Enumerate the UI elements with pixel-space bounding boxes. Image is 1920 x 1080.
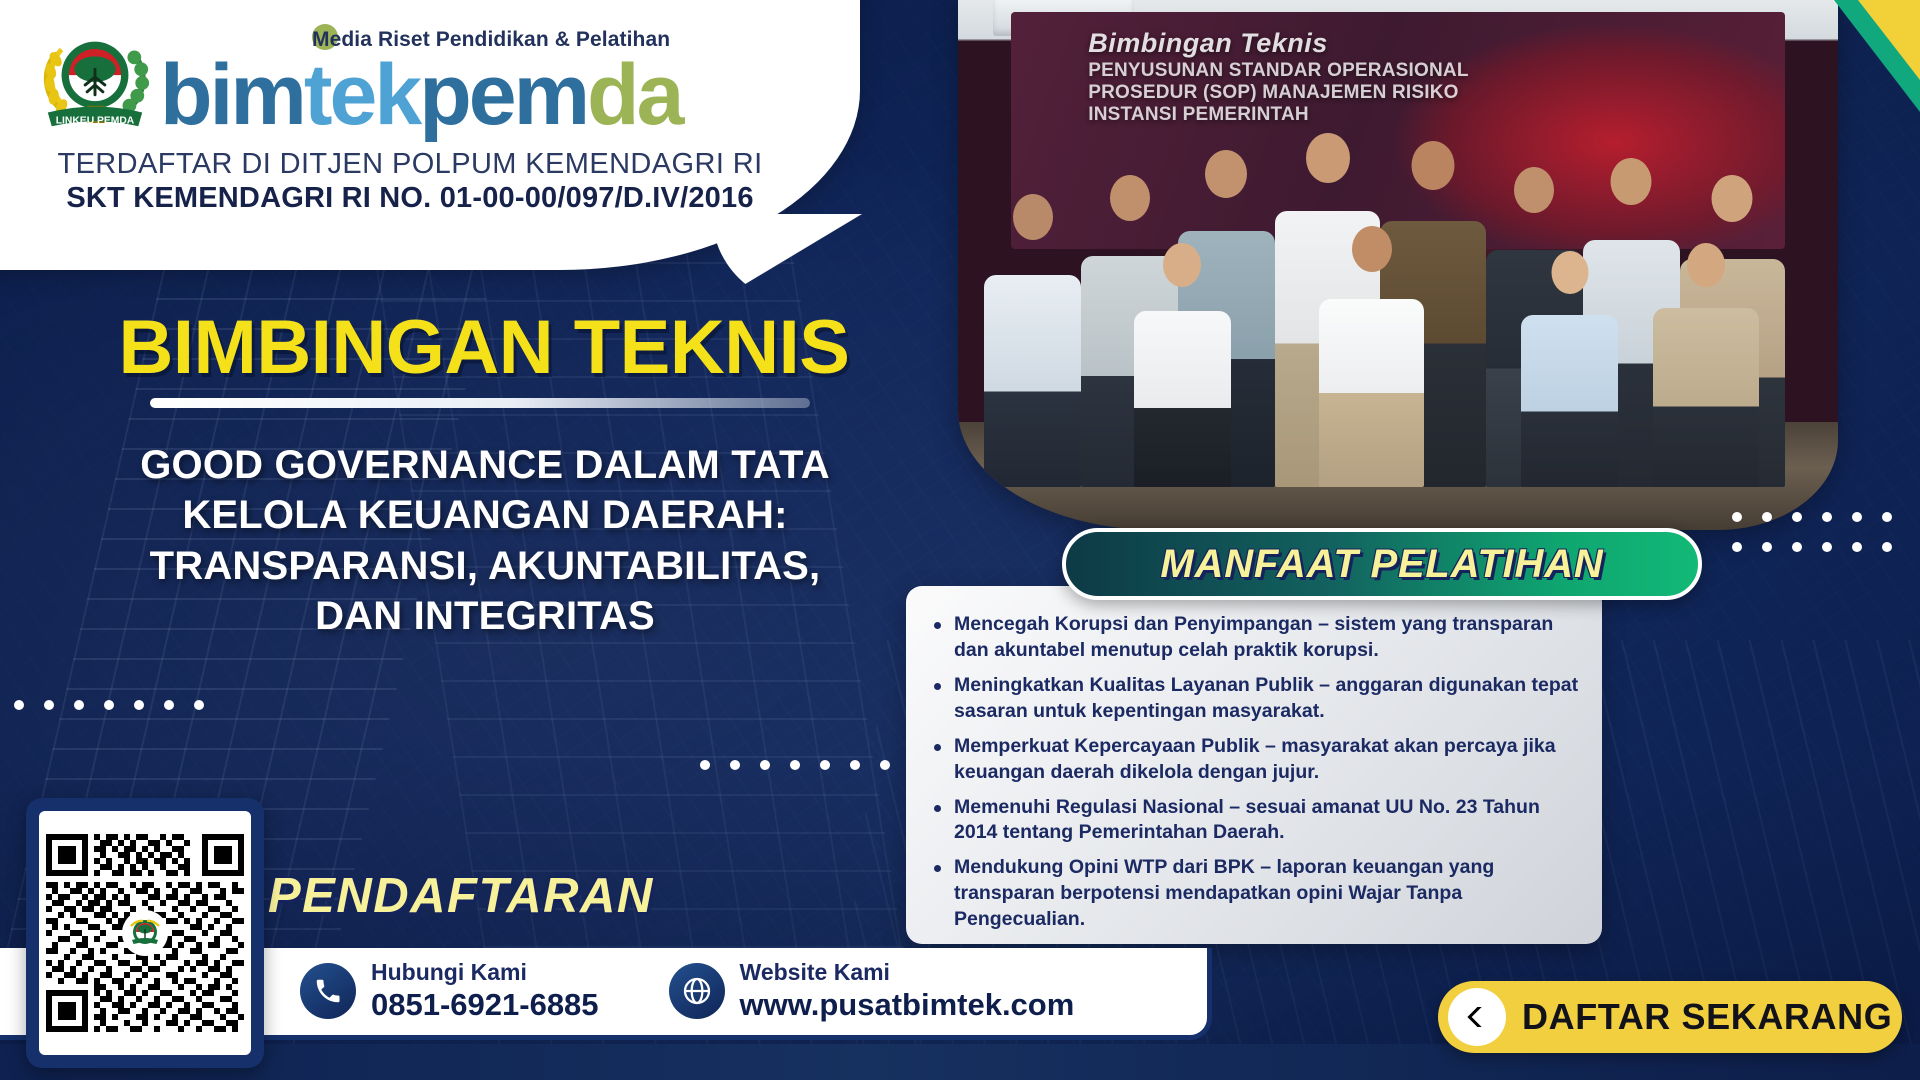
registration-label: PENDAFTARAN [268,868,654,924]
contact-phone-label: Hubungi Kami [371,960,599,985]
brand-lockup: LINKEU PEMDA Media Riset Pendidikan & Pe… [36,22,681,140]
emblem-ribbon-text: LINKEU PEMDA [56,115,135,126]
contact-website-text: Website Kami www.pusatbimtek.com [740,960,1075,1022]
brand-part-tek: tek [304,47,419,143]
benefits-heading-text: MANFAAT PELATIHAN [1160,542,1603,587]
dot-grid-right [1732,512,1892,552]
list-item: Memenuhi Regulasi Nasional – sesuai aman… [932,795,1582,847]
chevron-left-icon [1448,988,1506,1046]
photo-person [1319,226,1425,487]
dot-grid-center [700,760,890,770]
qr-inner [39,811,251,1055]
linkeu-pemda-emblem-icon: LINKEU PEMDA [36,22,154,140]
photo-banner-title: Bimbingan Teknis [1088,28,1328,58]
list-item: Mencegah Korupsi dan Penyimpangan – sist… [932,612,1582,664]
contact-website-label: Website Kami [740,960,1075,985]
list-item: Mendukung Opini WTP dari BPK – laporan k… [932,855,1582,933]
globe-icon [669,963,725,1019]
photo-people-group [958,66,1838,487]
benefits-list: Mencegah Korupsi dan Penyimpangan – sist… [932,612,1582,933]
benefits-heading-badge: MANFAAT PELATIHAN [1062,528,1702,600]
poster-canvas: Bimbingan Teknis PENYUSUNAN STANDAR OPER… [0,0,1920,1080]
list-item: Memperkuat Kepercayaan Publik – masyarak… [932,734,1582,786]
benefits-card: Mencegah Korupsi dan Penyimpangan – sist… [906,586,1602,944]
contact-phone-value: 0851-6921-6885 [371,986,599,1023]
brand-tagline: Media Riset Pendidikan & Pelatihan [312,28,670,52]
dot-grid-left [14,700,204,710]
page-subtitle: GOOD GOVERNANCE DALAM TATA KELOLA KEUANG… [40,440,930,642]
registration-line-1: TERDAFTAR DI DITJEN POLPUM KEMENDAGRI RI [40,148,780,181]
photo-person [1134,243,1231,487]
phone-icon [300,963,356,1019]
photo-person [1653,243,1759,487]
subtitle-line-3: TRANSPARANSI, AKUNTABILITAS, [40,541,930,591]
contact-website-value: www.pusatbimtek.com [740,986,1075,1023]
list-item: Meningkatkan Kualitas Layanan Publik – a… [932,673,1582,725]
group-photo-panel: Bimbingan Teknis PENYUSUNAN STANDAR OPER… [958,0,1838,530]
brand-text-block: Media Riset Pendidikan & Pelatihan bimte… [160,22,681,137]
page-title: BIMBINGAN TEKNIS [64,310,904,386]
contact-website[interactable]: Website Kami www.pusatbimtek.com [669,960,1075,1022]
brand-part-pem: pem [419,47,587,143]
photo-person [984,192,1081,487]
register-now-button[interactable]: DAFTAR SEKARANG [1438,981,1902,1053]
subtitle-line-2: KELOLA KEUANGAN DAERAH: [40,490,930,540]
brand-part-bim: bim [160,47,304,143]
header-content: LINKEU PEMDA Media Riset Pendidikan & Pe… [0,0,820,250]
group-photo-image: Bimbingan Teknis PENYUSUNAN STANDAR OPER… [958,0,1838,530]
subtitle-line-1: GOOD GOVERNANCE DALAM TATA [40,440,930,490]
contact-phone-text: Hubungi Kami 0851-6921-6885 [371,960,599,1022]
registration-line-2: SKT KEMENDAGRI RI NO. 01-00-00/097/D.IV/… [40,182,780,215]
register-now-label: DAFTAR SEKARANG [1522,996,1892,1038]
qr-center-logo-icon [122,910,168,956]
brand-part-da: da [587,47,681,143]
photo-person [1521,251,1618,487]
contact-phone[interactable]: Hubungi Kami 0851-6921-6885 [300,960,599,1022]
subtitle-line-4: DAN INTEGRITAS [40,591,930,641]
registration-qr-code[interactable] [26,798,264,1068]
brand-wordmark: bimtekpemda [160,54,681,137]
title-divider [150,398,810,408]
